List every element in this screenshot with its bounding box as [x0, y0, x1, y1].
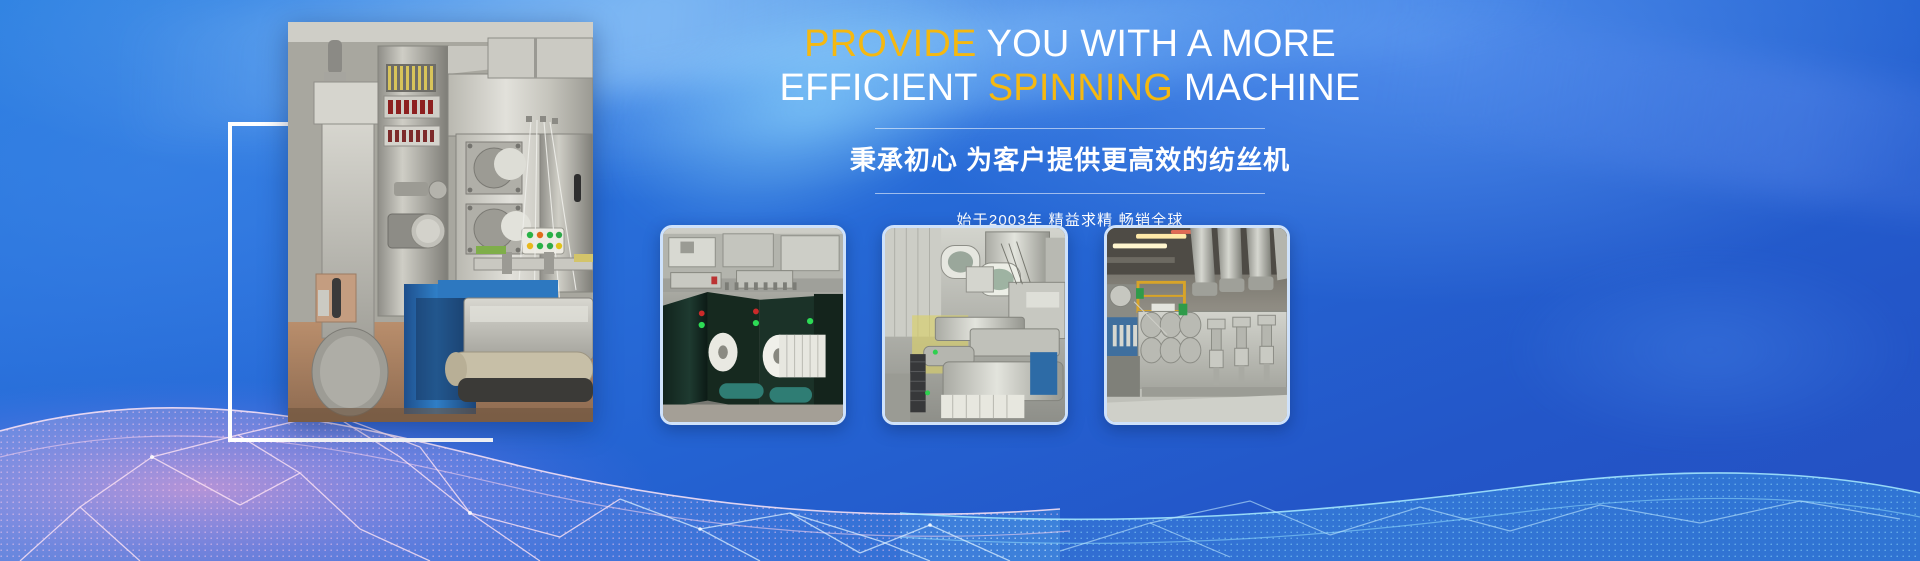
chinese-tagline: 秉承初心 为客户提供更高效的纺丝机 — [690, 143, 1450, 177]
headline-rest-line-1: YOU WITH A MORE — [987, 23, 1336, 65]
banner-text-block: PROVIDE YOU WITH A MORE EFFICIENT SPINNI… — [690, 22, 1450, 232]
divider-top — [875, 128, 1265, 129]
thumbnail-2[interactable] — [882, 225, 1068, 425]
divider-bottom — [875, 193, 1265, 194]
headline-accent-provide: PROVIDE — [804, 23, 976, 65]
light-glow-decoration — [1500, 250, 1920, 450]
headline-line-2: EFFICIENT SPINNING MACHINE — [690, 66, 1450, 110]
thumbnail-1[interactable] — [660, 225, 846, 425]
promotional-banner: PROVIDE YOU WITH A MORE EFFICIENT SPINNI… — [0, 0, 1920, 561]
hero-machine-photo — [288, 22, 593, 422]
headline-machine: MACHINE — [1184, 67, 1361, 109]
light-streak-decoration — [1375, 1, 1920, 248]
headline-efficient: EFFICIENT — [780, 67, 977, 109]
thumbnail-row — [660, 225, 1290, 425]
thumbnail-3[interactable] — [1104, 225, 1290, 425]
headline-accent-spinning: SPINNING — [988, 67, 1173, 109]
headline-line-1: PROVIDE YOU WITH A MORE — [690, 22, 1450, 66]
